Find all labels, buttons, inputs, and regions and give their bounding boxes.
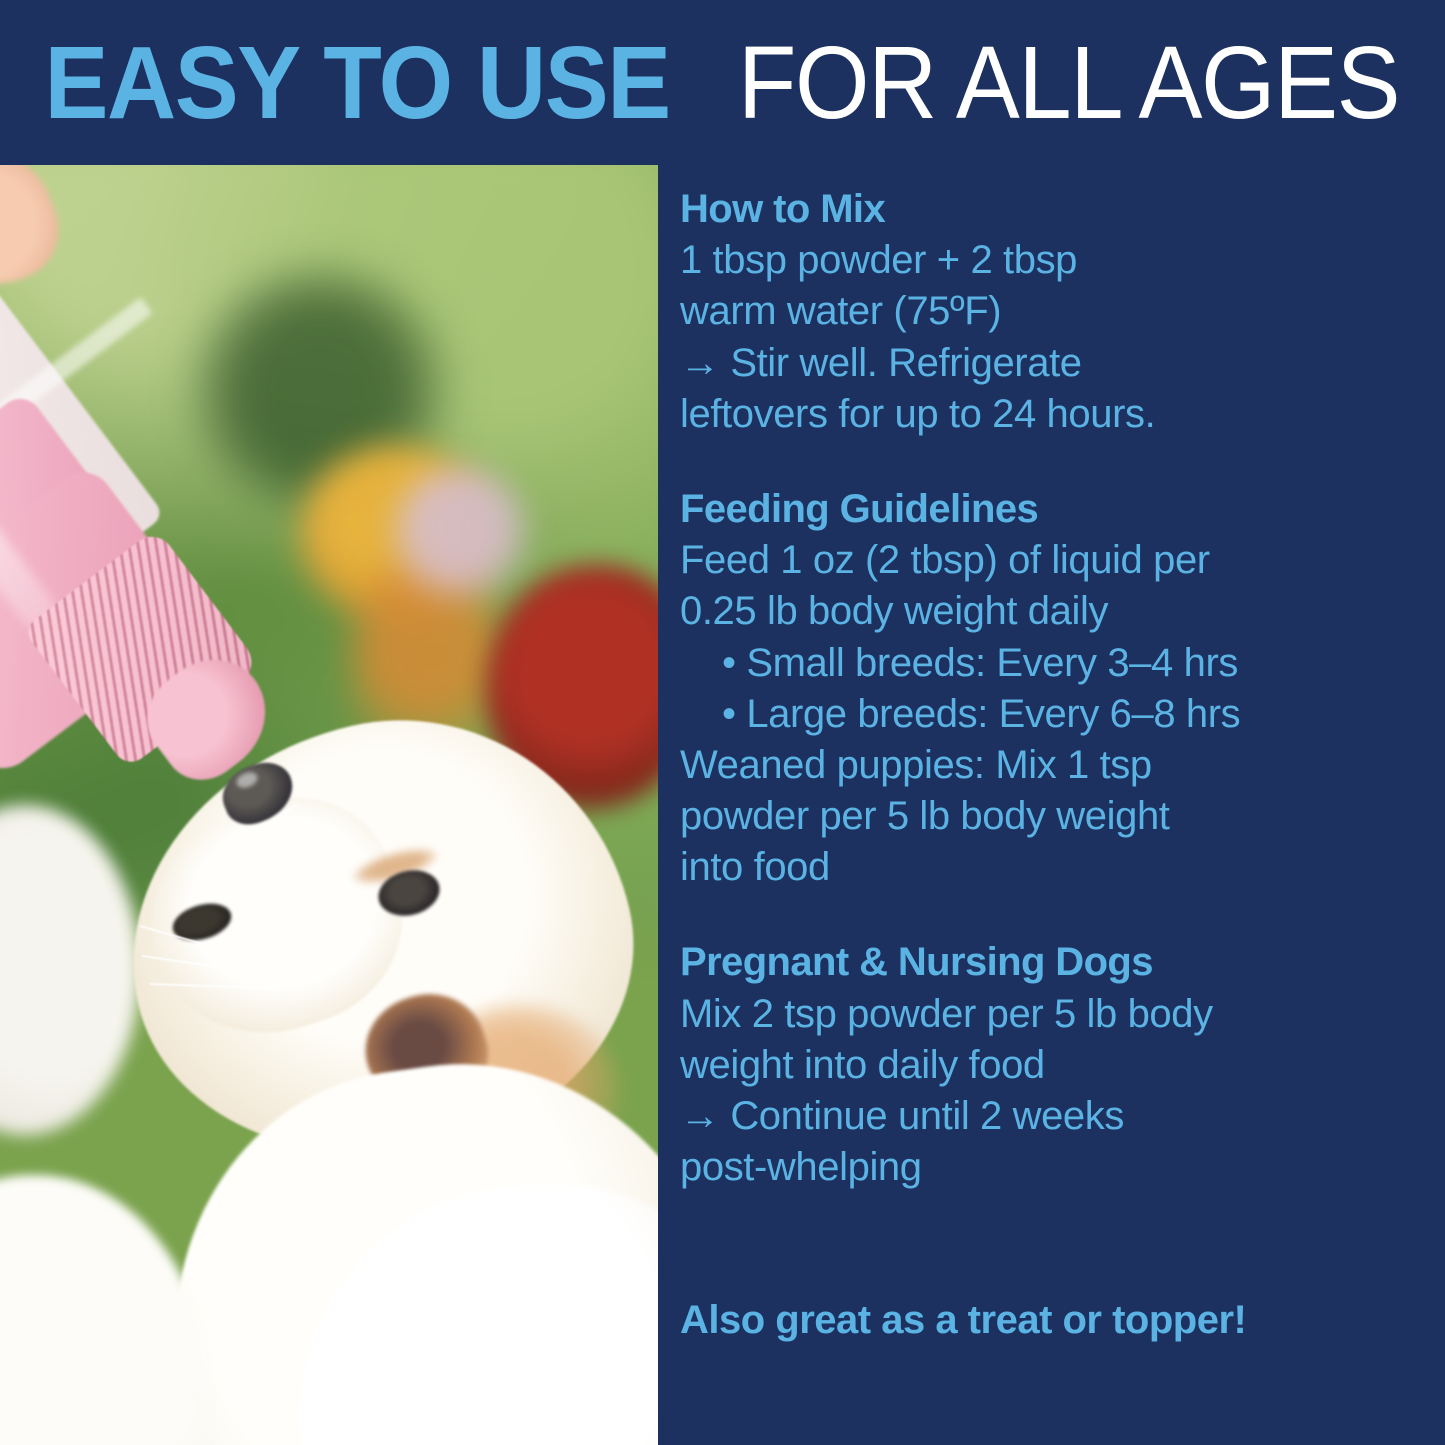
background-pink-bokeh [390,465,530,605]
section-heading: How to Mix [680,186,1432,233]
puppy-bottle-feeding-photo [0,165,658,1445]
section-how-to-mix: How to Mix 1 tbsp powder + 2 tbsp warm w… [680,186,1432,440]
instructions-copy-column: How to Mix 1 tbsp powder + 2 tbsp warm w… [680,186,1432,1193]
body-line: 0.25 lb body weight daily [680,586,1432,637]
body-line: powder per 5 lb body weight [680,791,1432,842]
section-heading: Feeding Guidelines [680,486,1432,533]
section-spacer [680,440,1432,486]
body-line: weight into daily food [680,1040,1432,1091]
body-line: into food [680,842,1432,893]
section-spacer [680,893,1432,939]
body-line: Feed 1 oz (2 tbsp) of liquid per [680,535,1432,586]
header-accent-text: EASY TO USE [44,31,669,134]
closing-tagline: Also great as a treat or topper! [680,1298,1432,1343]
body-line: Mix 2 tsp powder per 5 lb body [680,989,1432,1040]
background-sibling-puppy-lower [0,1175,210,1445]
section-heading: Pregnant & Nursing Dogs [680,939,1432,986]
product-instruction-poster: EASY TO USE FOR ALL AGES [0,0,1445,1445]
poster-header: EASY TO USE FOR ALL AGES [0,0,1445,165]
list-item: • Large breeds: Every 6–8 hrs [680,689,1432,740]
section-pregnant-nursing-dogs: Pregnant & Nursing Dogs Mix 2 tsp powder… [680,939,1432,1193]
section-feeding-guidelines: Feeding Guidelines Feed 1 oz (2 tbsp) of… [680,486,1432,894]
body-line: → Continue until 2 weeks [680,1091,1432,1142]
header-secondary-text: FOR ALL AGES [738,31,1399,134]
body-line: → Stir well. Refrigerate [680,338,1432,389]
body-line: 1 tbsp powder + 2 tbsp [680,235,1432,286]
list-item: • Small breeds: Every 3–4 hrs [680,638,1432,689]
body-line: post-whelping [680,1142,1432,1193]
body-line: warm water (75ºF) [680,286,1432,337]
body-line: Weaned puppies: Mix 1 tsp [680,740,1432,791]
body-line: leftovers for up to 24 hours. [680,389,1432,440]
